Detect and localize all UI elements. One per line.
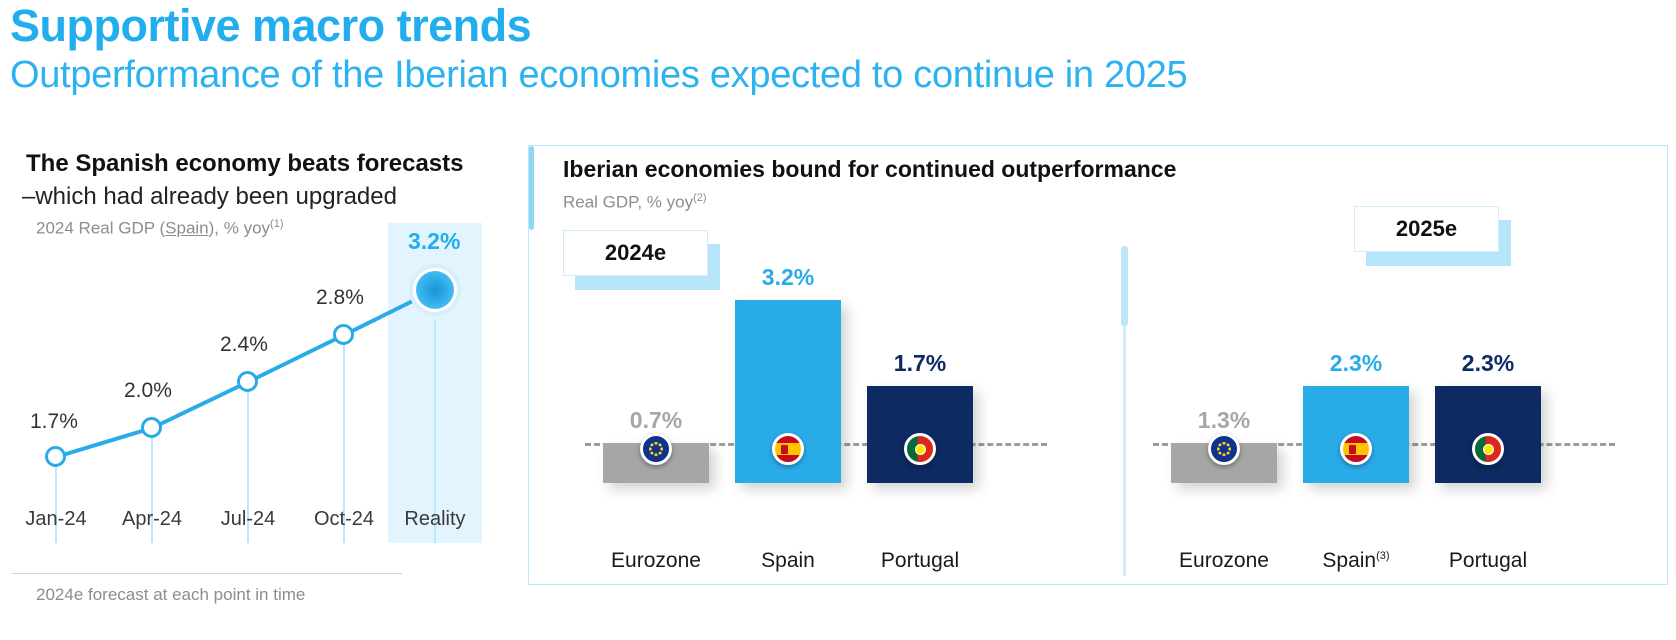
left-chart-panel: The Spanish economy beats forecasts –whi… [0, 145, 512, 625]
x-axis-label-oct24: Oct-24 [294, 508, 394, 531]
point-label-oct24: 2.8% [316, 286, 364, 310]
reality-data-point[interactable] [409, 264, 461, 316]
data-point[interactable] [141, 417, 162, 438]
point-label-jan24: 1.7% [30, 410, 78, 434]
portugal-flag-icon [904, 433, 936, 465]
x-axis-label-jul24: Jul-24 [198, 508, 298, 531]
line-chart-plot: 1.7% 2.0% 2.4% 2.8% 3.2% Jan-24 Apr-24 J… [0, 145, 512, 625]
right-chart-panel: Iberian economies bound for continued ou… [528, 145, 1668, 585]
slide-header: Supportive macro trends Outperformance o… [10, 2, 1660, 97]
right-panel-subtitle: Real GDP, % yoy(2) [563, 192, 707, 213]
portugal-flag-icon [1472, 433, 1504, 465]
bar-group-2025e: 1.3% Eurozone 2.3% Spain(3) 2.3% Portuga… [1139, 246, 1659, 586]
eurozone-flag-icon [640, 433, 672, 465]
bar-category-portugal-2024: Portugal [803, 549, 1036, 573]
bar-value-eurozone-2025: 1.3% [1118, 407, 1330, 434]
right-subtitle-footnote: (2) [693, 192, 706, 204]
spain-flag-icon [1340, 433, 1372, 465]
bar-value-portugal-2025: 2.3% [1382, 350, 1594, 377]
page-subtitle: Outperformance of the Iberian economies … [10, 55, 1660, 97]
bar-spain-2024[interactable]: 3.2% Spain [735, 300, 841, 483]
x-axis-label-apr24: Apr-24 [102, 508, 202, 531]
data-point[interactable] [237, 371, 258, 392]
bar-portugal-2025[interactable]: 2.3% Portugal [1435, 386, 1541, 483]
bar-value-eurozone-2024: 0.7% [550, 407, 762, 434]
bar-value-spain-2024: 3.2% [682, 264, 894, 291]
data-point[interactable] [333, 324, 354, 345]
left-panel-footnote: 2024e forecast at each point in time [36, 585, 305, 605]
panel-divider-cap [1121, 246, 1128, 326]
x-axis-label-jan24: Jan-24 [6, 508, 106, 531]
bar-group-2024e: 0.7% Eurozone 3.2% Spain 1.7% Portugal [563, 246, 1113, 586]
bar-spain-2025[interactable]: 2.3% Spain(3) [1303, 386, 1409, 483]
axis-rule [12, 573, 402, 574]
accent-bar-icon [529, 146, 534, 230]
page-title: Supportive macro trends [10, 2, 1660, 49]
point-label-jul24: 2.4% [220, 333, 268, 357]
bar-portugal-2024[interactable]: 1.7% Portugal [867, 386, 973, 483]
eurozone-flag-icon [1208, 433, 1240, 465]
bar-eurozone-2025[interactable]: 1.3% Eurozone [1171, 443, 1277, 483]
data-point[interactable] [45, 446, 66, 467]
bar-category-portugal-2025: Portugal [1371, 549, 1604, 573]
bar-eurozone-2024[interactable]: 0.7% Eurozone [603, 443, 709, 483]
point-label-apr24: 2.0% [124, 379, 172, 403]
point-label-reality: 3.2% [408, 228, 460, 255]
right-subtitle-text: Real GDP, % yoy [563, 193, 693, 212]
bar-category-spain-2025-text: Spain [1322, 549, 1376, 572]
x-axis-label-reality: Reality [385, 508, 485, 531]
bar-value-portugal-2024: 1.7% [814, 350, 1026, 377]
right-panel-heading: Iberian economies bound for continued ou… [563, 156, 1176, 183]
spain-flag-icon [772, 433, 804, 465]
